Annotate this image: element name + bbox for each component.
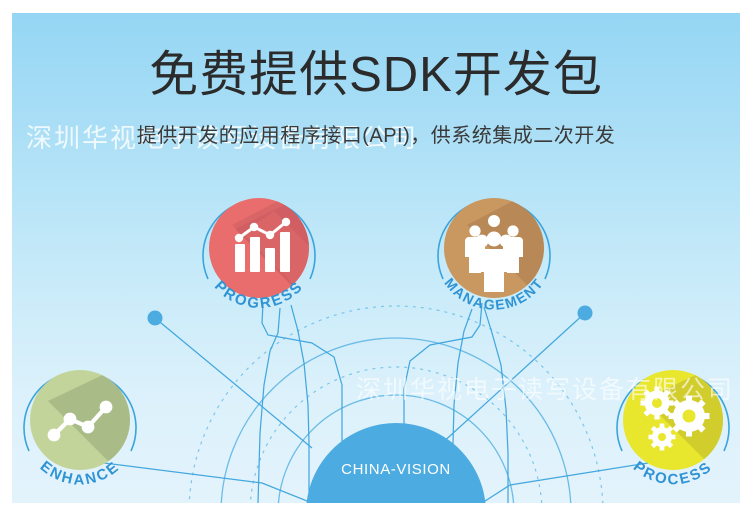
connector-dot-left <box>148 311 163 326</box>
page-title: 免费提供SDK开发包 <box>12 45 740 105</box>
promo-banner: PROGRESS <box>12 13 740 503</box>
banner-canvas: PROGRESS <box>0 0 750 529</box>
connector-dot-right <box>578 306 593 321</box>
hub-label: CHINA-VISION <box>316 461 476 478</box>
page-subtitle: 提供开发的应用程序接口(API)，供系统集成二次开发 <box>12 122 740 150</box>
